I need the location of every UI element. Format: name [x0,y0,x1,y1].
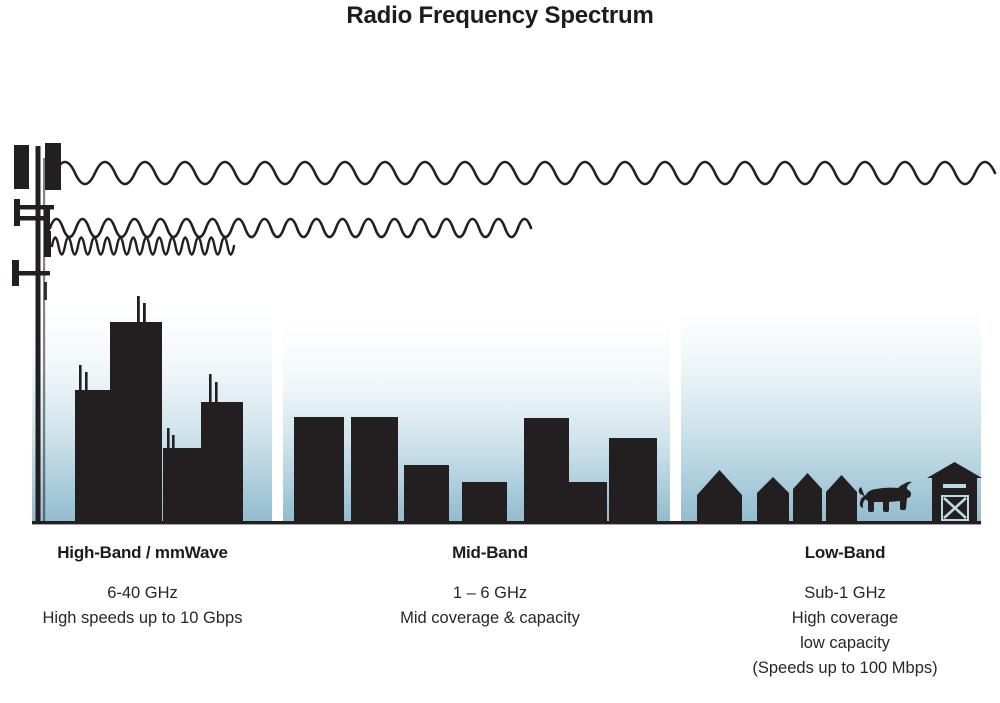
band-desc-mid-band: 1 – 6 GHz Mid coverage & capacity [345,581,635,631]
hayloft-window [943,484,966,488]
building [75,390,111,521]
building [163,448,201,521]
building [404,465,449,521]
antenna-panel-left [14,145,29,189]
building [294,417,344,521]
mid-band-wave [50,219,531,237]
band-desc-line: 1 – 6 GHz [345,581,635,606]
band-desc-line: (Speeds up to 100 Mbps) [690,656,1000,681]
antenna-spire [215,382,218,403]
band-column-low-band: Low-Band Sub-1 GHz High coverage low cap… [690,543,1000,681]
low-band-wave [55,162,995,184]
ground-line [32,521,981,524]
antenna-spire [137,296,140,323]
band-desc-line: Mid coverage & capacity [345,606,635,631]
band-desc-line: low capacity [690,631,1000,656]
building [110,322,162,521]
antenna-spire [172,435,175,449]
band-labels: High-Band / mmWave 6-40 GHz High speeds … [0,543,1000,703]
band-column-mid-band: Mid-Band 1 – 6 GHz Mid coverage & capaci… [345,543,635,631]
building [201,402,243,521]
antenna-spire [79,365,82,391]
antenna-spire [143,303,146,323]
antenna-spire [209,374,212,403]
band-desc-line: High speeds up to 10 Gbps [0,606,285,631]
band-title-low-band: Low-Band [690,543,1000,563]
high-band-wave [52,238,234,255]
band-desc-line: High coverage [690,606,1000,631]
building [524,418,569,521]
building [609,438,657,521]
infographic-stage: Radio Frequency Spectrum [0,0,1000,700]
band-desc-line: 6-40 GHz [0,581,285,606]
band-title-mid-band: Mid-Band [345,543,635,563]
antenna-spire [85,372,88,391]
building [462,482,507,521]
building [351,417,398,521]
antenna-spire [167,428,170,449]
band-desc-high-band: 6-40 GHz High speeds up to 10 Gbps [0,581,285,631]
band-column-high-band: High-Band / mmWave 6-40 GHz High speeds … [0,543,285,631]
band-desc-line: Sub-1 GHz [690,581,1000,606]
band-title-high-band: High-Band / mmWave [0,543,285,563]
building [569,482,607,521]
band-desc-low-band: Sub-1 GHz High coverage low capacity (Sp… [690,581,1000,681]
